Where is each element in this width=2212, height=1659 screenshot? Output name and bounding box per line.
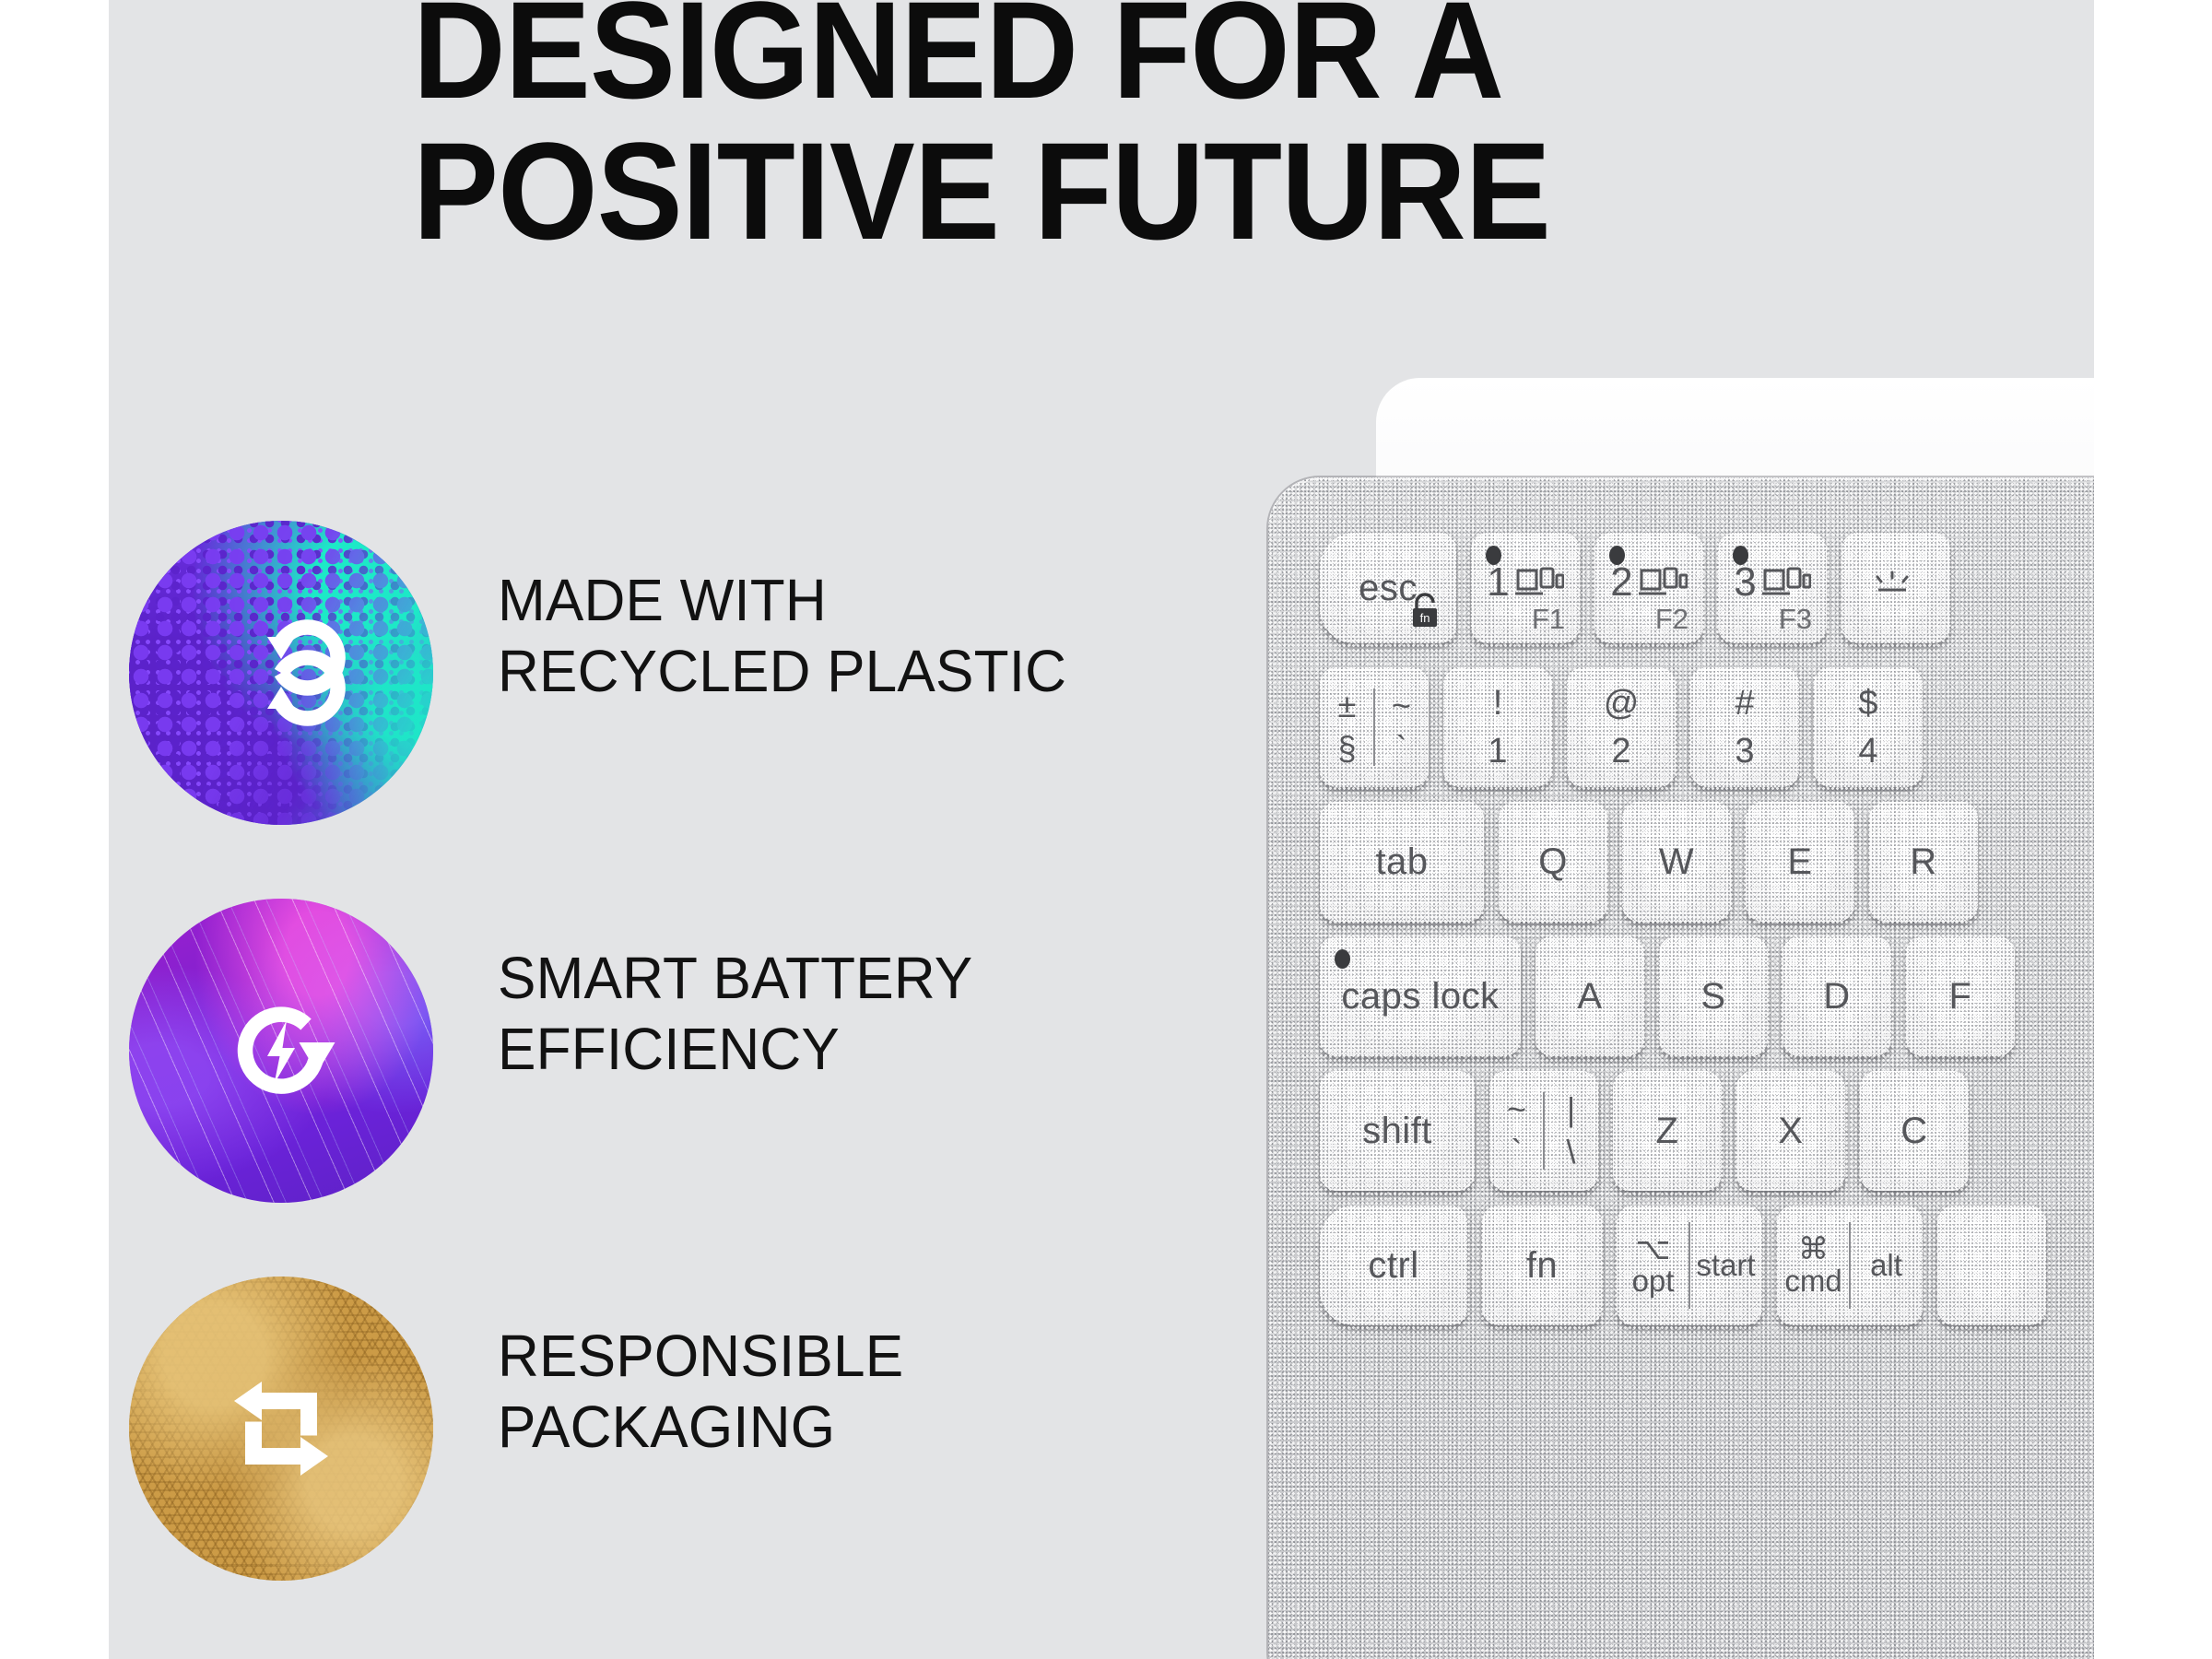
key-divider bbox=[1373, 688, 1375, 765]
fkey-label-f1: F1 bbox=[1532, 603, 1565, 636]
key-3[interactable]: # 3 bbox=[1690, 667, 1799, 787]
legend-cmd: ⌘ cmd bbox=[1777, 1233, 1850, 1297]
key-backslash[interactable]: ~ ` | \ bbox=[1489, 1071, 1598, 1191]
feature-item-smart-battery: SMART BATTERY EFFICIENCY bbox=[129, 899, 1217, 1277]
smart-battery-icon bbox=[129, 899, 433, 1203]
poster-canvas: DESIGNED FOR A POSITIVE FUTURE MA bbox=[109, 0, 2094, 1659]
key-1[interactable]: ! 1 bbox=[1443, 667, 1552, 787]
device-switch-icon-3: 3 bbox=[1734, 559, 1810, 606]
key-ctrl[interactable]: ctrl bbox=[1320, 1206, 1467, 1325]
key-divider bbox=[1543, 1092, 1545, 1169]
keyboard-image: esc fn 1 bbox=[1226, 378, 2094, 1659]
feature-item-recycled-plastic: MADE WITH RECYCLED PLASTIC bbox=[129, 521, 1217, 899]
feature-label-recycled-plastic: MADE WITH RECYCLED PLASTIC bbox=[498, 565, 1066, 707]
legend-opt: ⌥ opt bbox=[1617, 1233, 1689, 1297]
mod-dual-legend: ⌥ opt start bbox=[1617, 1206, 1762, 1325]
keyboard-row-function: esc fn 1 bbox=[1320, 533, 1950, 643]
key-divider bbox=[1688, 1222, 1690, 1309]
key-z[interactable]: Z bbox=[1613, 1071, 1722, 1191]
led-indicator-f2 bbox=[1609, 546, 1625, 565]
feature-label-responsible-packaging: RESPONSIBLE PACKAGING bbox=[498, 1321, 903, 1463]
circular-recycling-arrows-icon bbox=[212, 604, 350, 742]
fkey-label-f3: F3 bbox=[1779, 603, 1812, 636]
split-legend: ± § ~ ` bbox=[1320, 667, 1429, 787]
fkey-label-f2: F2 bbox=[1655, 603, 1688, 636]
computer-phone-icon bbox=[1514, 563, 1564, 602]
key-c[interactable]: C bbox=[1860, 1071, 1969, 1191]
key-cmd-alt[interactable]: ⌘ cmd alt bbox=[1777, 1206, 1923, 1325]
responsible-packaging-icon bbox=[129, 1277, 433, 1581]
key-opt-start[interactable]: ⌥ opt start bbox=[1617, 1206, 1762, 1325]
keyboard-row-numbers: ± § ~ ` ! 1 bbox=[1320, 667, 1923, 787]
legend-start: start bbox=[1689, 1250, 1762, 1282]
keyboard-row-tab: tab Q W E R bbox=[1320, 802, 1978, 922]
key-fn[interactable]: fn bbox=[1482, 1206, 1602, 1325]
circular-arrow-lightning-icon bbox=[212, 982, 350, 1120]
key-divider bbox=[1849, 1222, 1851, 1309]
key-f2[interactable]: 2 F2 bbox=[1594, 533, 1703, 643]
fn-lock-icon: fn bbox=[1406, 590, 1443, 632]
led-indicator-f1 bbox=[1486, 546, 1501, 565]
device-switch-icon-1: 1 bbox=[1487, 559, 1563, 606]
key-w[interactable]: W bbox=[1622, 802, 1731, 922]
legend-stack: # 3 bbox=[1735, 686, 1754, 769]
keyboard-row-shift: shift ~ ` | \ bbox=[1320, 1071, 1969, 1191]
keyboard-row-modifiers: ctrl fn ⌥ opt start bbox=[1320, 1206, 2046, 1325]
key-q[interactable]: Q bbox=[1499, 802, 1607, 922]
backlight-icon bbox=[1869, 570, 1923, 606]
legend-alt: alt bbox=[1850, 1250, 1923, 1282]
svg-text:fn: fn bbox=[1420, 611, 1430, 625]
feature-item-responsible-packaging: RESPONSIBLE PACKAGING bbox=[129, 1277, 1217, 1654]
key-4[interactable]: $ 4 bbox=[1814, 667, 1923, 787]
key-caps-lock[interactable]: caps lock bbox=[1320, 936, 1521, 1056]
legend-right: | \ bbox=[1544, 1093, 1598, 1169]
feature-list: MADE WITH RECYCLED PLASTIC SMART BATTERY… bbox=[129, 521, 1217, 1654]
key-shift[interactable]: shift bbox=[1320, 1071, 1475, 1191]
key-esc[interactable]: esc fn bbox=[1320, 533, 1456, 643]
key-tab[interactable]: tab bbox=[1320, 802, 1484, 922]
key-f1[interactable]: 1 F1 bbox=[1471, 533, 1580, 643]
key-section[interactable]: ± § ~ ` bbox=[1320, 667, 1429, 787]
key-d[interactable]: D bbox=[1783, 936, 1891, 1056]
device-switch-icon-2: 2 bbox=[1610, 559, 1687, 606]
recycled-plastic-icon bbox=[129, 521, 433, 825]
poster-root: DESIGNED FOR A POSITIVE FUTURE MA bbox=[0, 0, 2212, 1659]
legend-stack: $ 4 bbox=[1858, 686, 1877, 769]
keyboard-row-caps: caps lock A S D F bbox=[1320, 936, 2015, 1056]
key-x[interactable]: X bbox=[1736, 1071, 1845, 1191]
mod-dual-legend: ⌘ cmd alt bbox=[1777, 1206, 1923, 1325]
legend-right: ~ ` bbox=[1374, 689, 1429, 765]
key-e[interactable]: E bbox=[1746, 802, 1854, 922]
key-f[interactable]: F bbox=[1906, 936, 2015, 1056]
legend-stack: ! 1 bbox=[1488, 686, 1507, 769]
keyboard-chassis: esc fn 1 bbox=[1268, 477, 2094, 1659]
legend-left: ~ ` bbox=[1489, 1093, 1544, 1169]
feature-label-smart-battery: SMART BATTERY EFFICIENCY bbox=[498, 943, 972, 1085]
key-r[interactable]: R bbox=[1869, 802, 1978, 922]
key-space[interactable] bbox=[1937, 1206, 2046, 1325]
key-a[interactable]: A bbox=[1535, 936, 1644, 1056]
legend-stack: @ 2 bbox=[1604, 686, 1640, 769]
key-f3[interactable]: 3 F3 bbox=[1718, 533, 1827, 643]
led-indicator-caps-lock bbox=[1335, 949, 1350, 969]
key-2[interactable]: @ 2 bbox=[1567, 667, 1676, 787]
computer-phone-icon bbox=[1638, 563, 1688, 602]
key-f4[interactable] bbox=[1841, 533, 1950, 643]
legend-left: ± § bbox=[1320, 689, 1374, 765]
page-title: DESIGNED FOR A POSITIVE FUTURE bbox=[413, 0, 1784, 262]
split-legend: ~ ` | \ bbox=[1489, 1071, 1598, 1191]
square-loop-arrows-icon bbox=[212, 1359, 350, 1498]
led-indicator-f3 bbox=[1733, 546, 1748, 565]
key-s[interactable]: S bbox=[1659, 936, 1768, 1056]
computer-phone-icon bbox=[1761, 563, 1811, 602]
